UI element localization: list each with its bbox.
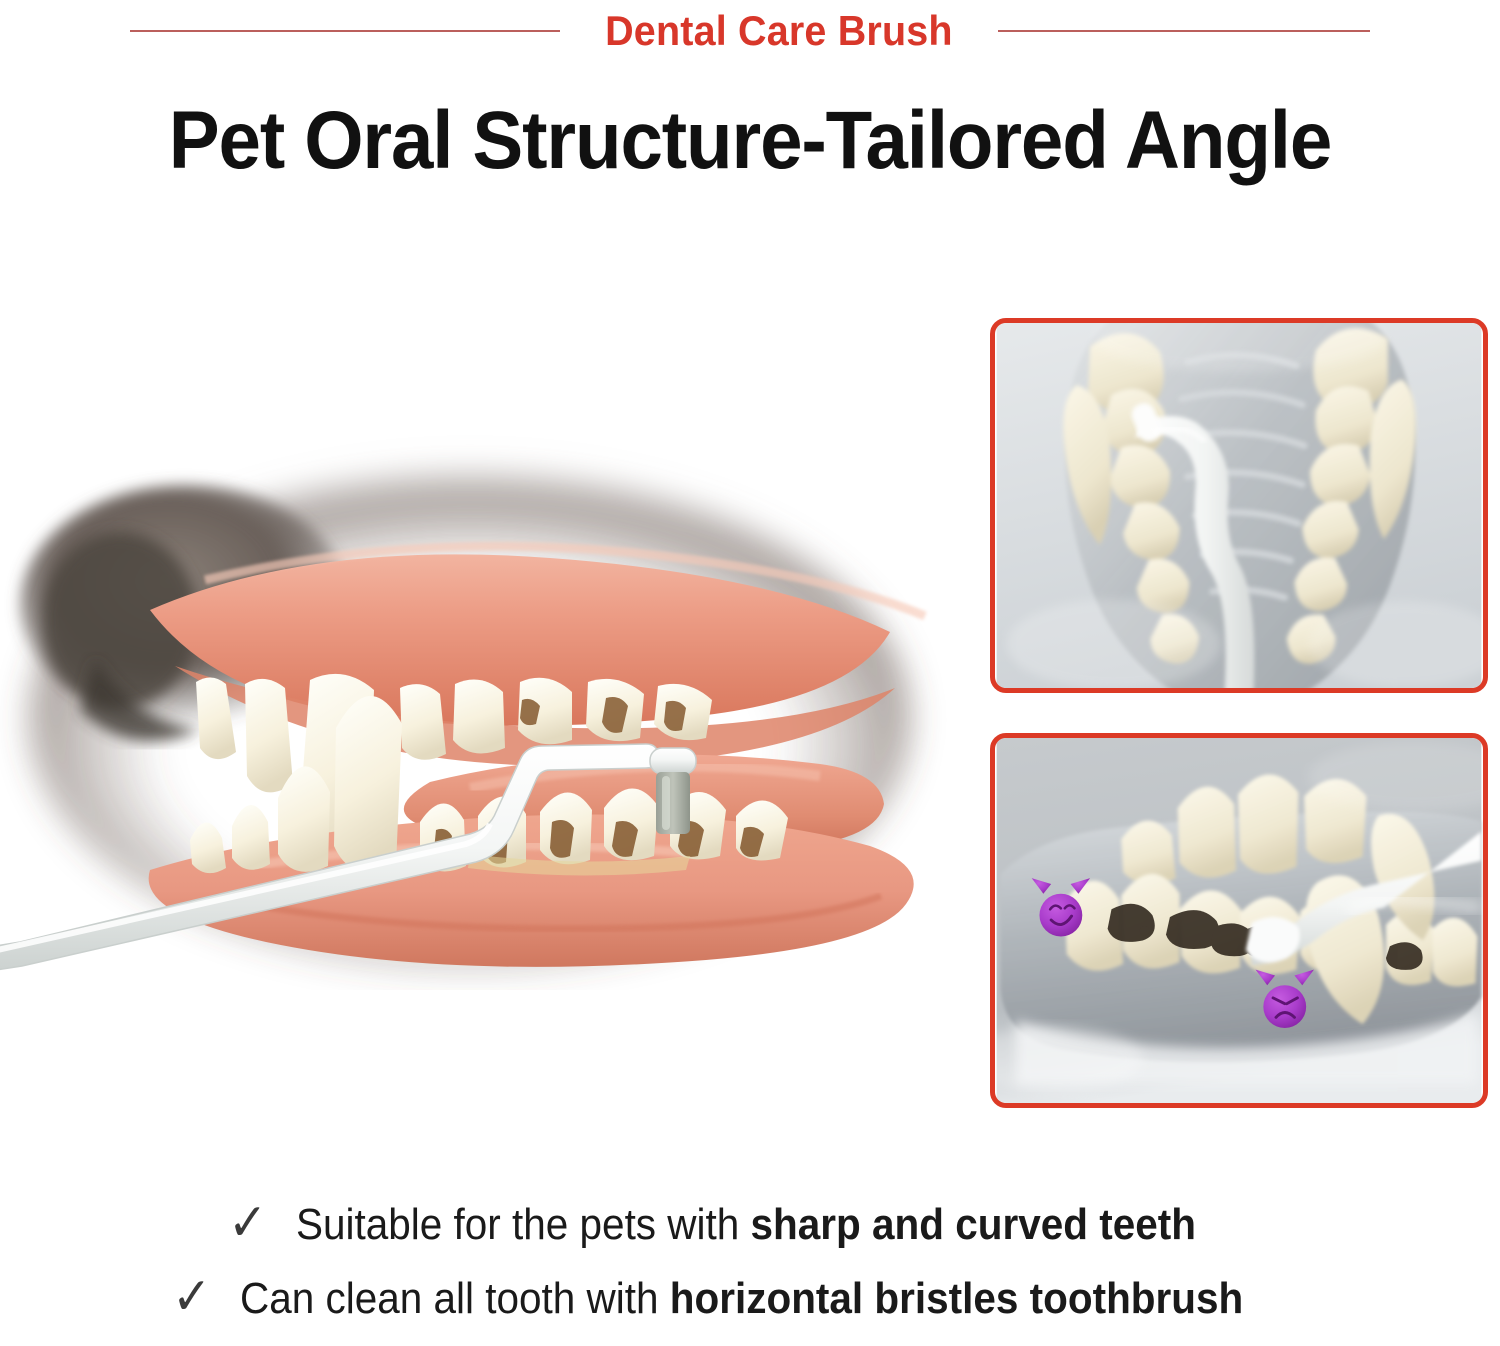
bullet-bold-1: sharp and curved teeth	[750, 1200, 1195, 1249]
photo-upper-jaw-model	[990, 318, 1488, 693]
list-item: ✓ Can clean all tooth with horizontal br…	[0, 1262, 1500, 1336]
check-icon: ✓	[228, 1197, 267, 1249]
feature-bullet-list: ✓ Suitable for the pets with sharp and c…	[0, 1188, 1500, 1336]
list-item: ✓ Suitable for the pets with sharp and c…	[0, 1188, 1500, 1262]
toothbrush-head	[650, 748, 696, 774]
bullet-lead-2: Can clean all tooth with	[240, 1274, 670, 1323]
check-icon: ✓	[172, 1271, 211, 1323]
dog-mouth-illustration	[0, 430, 960, 990]
bullet-bold-2: horizontal bristles toothbrush	[669, 1274, 1242, 1323]
bullet-text-1: Suitable for the pets with sharp and cur…	[296, 1200, 1196, 1250]
page-title: Pet Oral Structure-Tailored Angle	[53, 98, 1448, 184]
bullet-lead-1: Suitable for the pets with	[296, 1200, 751, 1249]
toothbrush-bristle-sheen	[662, 776, 670, 830]
photo-side-jaw-model	[990, 733, 1488, 1108]
header-eyebrow-title: Dental Care Brush	[605, 10, 953, 52]
header-banner: Dental Care Brush	[0, 0, 1500, 62]
header-rule-right	[998, 30, 1370, 32]
bullet-text-2: Can clean all tooth with horizontal bris…	[240, 1274, 1243, 1324]
toothbrush-bristles	[656, 772, 690, 834]
header-rule-left	[130, 30, 560, 32]
